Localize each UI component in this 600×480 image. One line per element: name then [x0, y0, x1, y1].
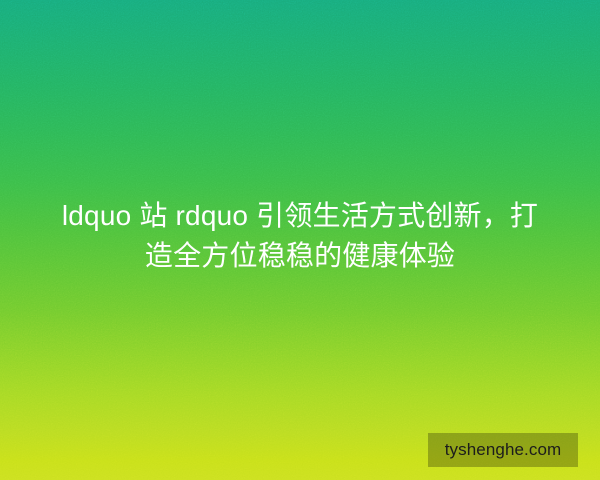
headline-line-1: ldquo 站 rdquo 引领生活方式创新，打 — [40, 196, 560, 236]
watermark-badge: tyshenghe.com — [428, 433, 578, 467]
banner-image: ldquo 站 rdquo 引领生活方式创新，打 造全方位稳稳的健康体验 tys… — [0, 0, 600, 480]
banner-headline: ldquo 站 rdquo 引领生活方式创新，打 造全方位稳稳的健康体验 — [40, 196, 560, 276]
watermark-text: tyshenghe.com — [445, 441, 562, 459]
headline-line-2: 造全方位稳稳的健康体验 — [40, 236, 560, 276]
